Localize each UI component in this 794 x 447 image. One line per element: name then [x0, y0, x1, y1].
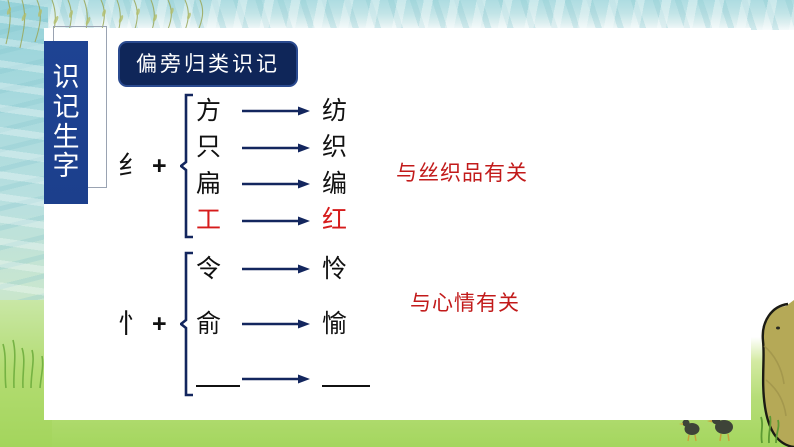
component-char: 俞: [196, 312, 240, 337]
plus-sign: +: [152, 154, 167, 179]
radical-group-heart: 忄 + 令 怜 俞: [118, 250, 448, 398]
annotation-mood: 与心情有关: [410, 287, 520, 317]
banner-char-3: 生: [53, 124, 80, 152]
result-char: 织: [312, 135, 374, 160]
pair-rows: 令 怜 俞 愉: [196, 250, 448, 398]
radical-classification-diagram: 纟 + 方 纺 只: [118, 92, 718, 402]
teal-watercolor-top-band: [0, 0, 794, 30]
plus-sign: +: [152, 312, 167, 337]
banner-fill: 识 记 生 字: [44, 41, 88, 204]
result-char: 编: [312, 172, 374, 197]
result-char: 红: [312, 208, 374, 233]
component-char: 方: [196, 99, 240, 124]
component-blank: [196, 367, 240, 392]
arrow-right-icon: [240, 372, 312, 386]
radical-char: 忄: [118, 311, 145, 338]
result-char: 愉: [312, 312, 374, 337]
arrow-right-icon: [240, 104, 312, 118]
blank-underline: [196, 371, 240, 387]
radical-cell: 纟 +: [118, 153, 180, 180]
slide-canvas: 识 记 生 字 偏旁归类识记 纟 + 方: [0, 0, 794, 447]
banner-char-2: 记: [53, 94, 80, 122]
component-char: 扁: [196, 172, 240, 197]
pair-row: 令 怜: [196, 252, 448, 286]
component-char: 工: [196, 208, 240, 233]
result-char: 纺: [312, 99, 374, 124]
pair-row: 工 红: [196, 204, 448, 238]
banner-char-1: 识: [53, 64, 80, 92]
result-char: 怜: [312, 257, 374, 282]
group-brace-icon: [180, 92, 196, 240]
component-char: 令: [196, 257, 240, 282]
blank-underline: [322, 371, 370, 387]
group-brace-icon: [180, 250, 196, 398]
pair-row-blank: [196, 362, 448, 396]
radical-char: 纟: [118, 153, 145, 180]
annotation-silk: 与丝织品有关: [396, 157, 528, 187]
component-char: 只: [196, 135, 240, 160]
pair-row: 方 纺: [196, 94, 448, 128]
teal-watercolor-left-band: [0, 0, 48, 356]
result-blank: [312, 367, 374, 392]
banner-char-4: 字: [53, 153, 80, 181]
arrow-right-icon: [240, 141, 312, 155]
arrow-right-icon: [240, 177, 312, 191]
radical-cell: 忄 +: [118, 311, 180, 338]
section-label-banner: 识 记 生 字: [44, 26, 106, 206]
page-title: 偏旁归类识记: [118, 41, 298, 87]
arrow-right-icon: [240, 262, 312, 276]
arrow-right-icon: [240, 214, 312, 228]
arrow-right-icon: [240, 317, 312, 331]
